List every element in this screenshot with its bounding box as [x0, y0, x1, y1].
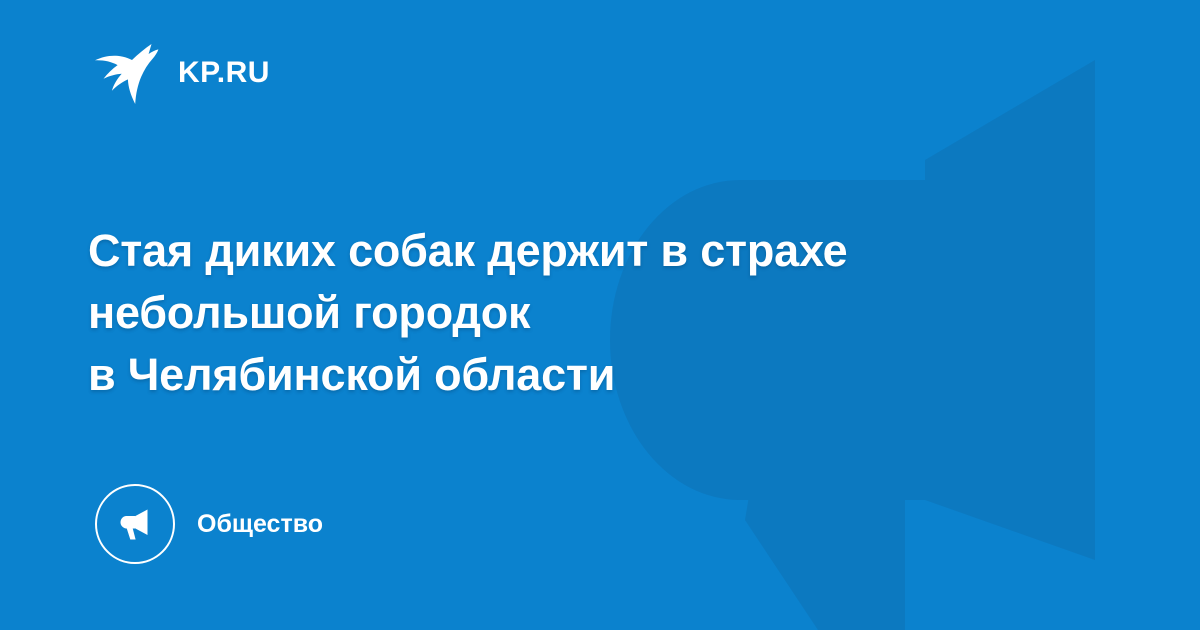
headline-line-3: в Челябинской области	[88, 344, 1088, 406]
megaphone-icon	[113, 502, 157, 546]
swallow-bird-icon	[88, 38, 160, 108]
headline-line-2: небольшой городок	[88, 282, 1088, 344]
headline: Стая диких собак держит в страхе небольш…	[88, 220, 1088, 406]
category-icon-circle	[95, 484, 175, 564]
category-label: Общество	[197, 512, 323, 537]
brand-logo[interactable]: KP.RU	[88, 38, 270, 108]
category-badge[interactable]: Общество	[95, 484, 323, 564]
share-card: KP.RU Стая диких собак держит в страхе н…	[0, 0, 1200, 630]
headline-line-1: Стая диких собак держит в страхе	[88, 220, 1088, 282]
brand-wordmark: KP.RU	[178, 58, 270, 88]
